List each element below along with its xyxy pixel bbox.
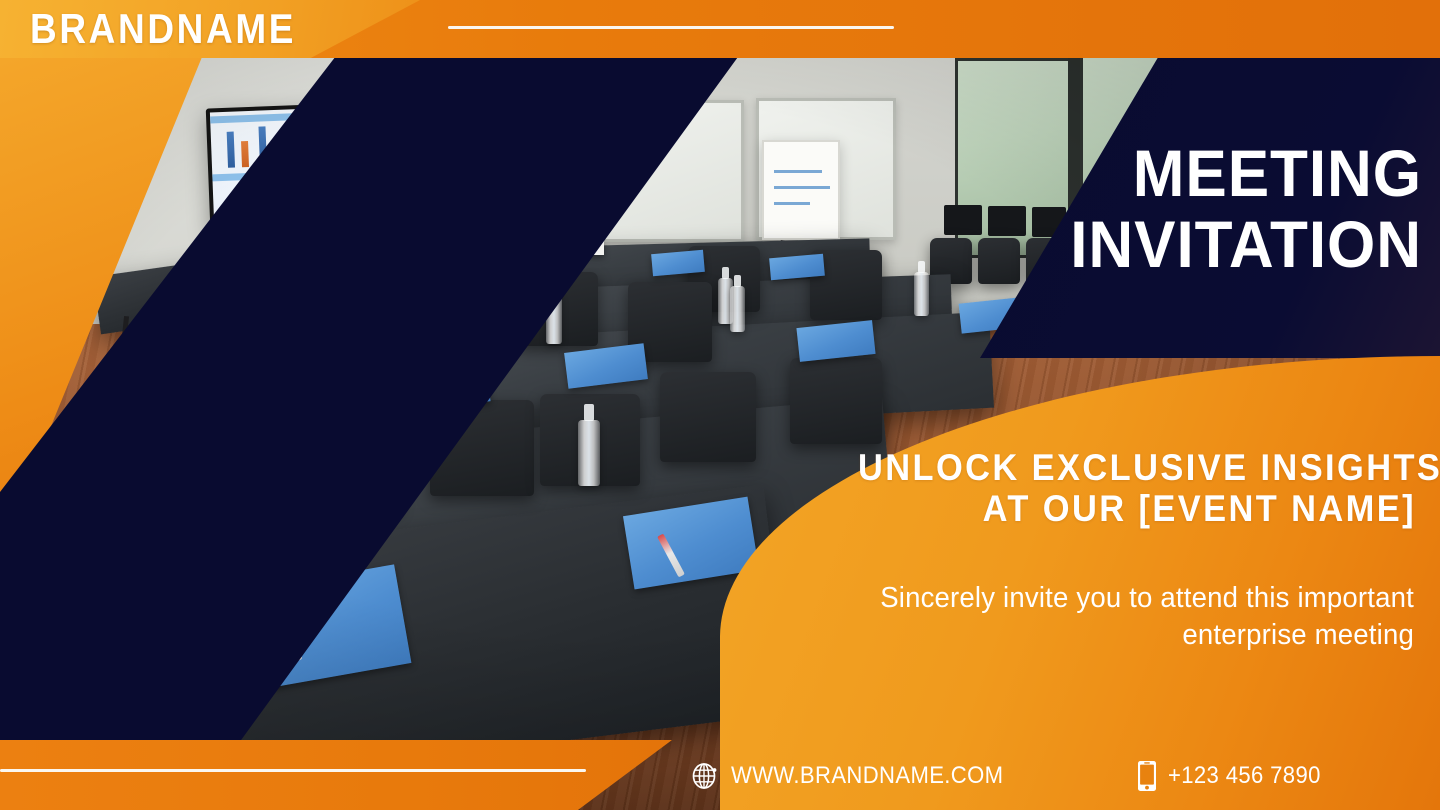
bottom-banner-rule: [0, 769, 586, 772]
meeting-invitation-poster: BRANDNAME MEETING INVITATION UNLOCK EXCL…: [0, 0, 1440, 810]
website-label: WWW.BRANDNAME.COM: [731, 762, 1003, 790]
subtitle-line-1: Sincerely invite you to attend this impo…: [806, 580, 1414, 617]
headline: UNLOCK EXCLUSIVE INSIGHTS AT OUR [EVENT …: [816, 447, 1416, 530]
page-title: MEETING INVITATION: [1002, 142, 1422, 277]
footer-contacts: WWW.BRANDNAME.COM +123 456 7890: [690, 760, 1334, 792]
headline-line-2: AT OUR [EVENT NAME]: [858, 488, 1416, 529]
globe-icon: [690, 761, 720, 791]
subtitle-line-2: enterprise meeting: [806, 617, 1414, 654]
website-contact[interactable]: WWW.BRANDNAME.COM: [690, 761, 1027, 791]
bottom-banner-bar: [0, 740, 672, 810]
brand-name: BRANDNAME: [30, 7, 296, 51]
phone-contact[interactable]: +123 456 7890: [1137, 760, 1334, 792]
title-line-meeting: MEETING: [1027, 142, 1422, 205]
title-line-invitation: INVITATION: [1027, 213, 1422, 276]
smartphone-icon: [1137, 760, 1157, 792]
headline-line-1: UNLOCK EXCLUSIVE INSIGHTS: [858, 447, 1416, 488]
subtitle: Sincerely invite you to attend this impo…: [774, 580, 1414, 654]
top-banner-rule: [448, 26, 894, 29]
phone-label: +123 456 7890: [1168, 762, 1321, 790]
